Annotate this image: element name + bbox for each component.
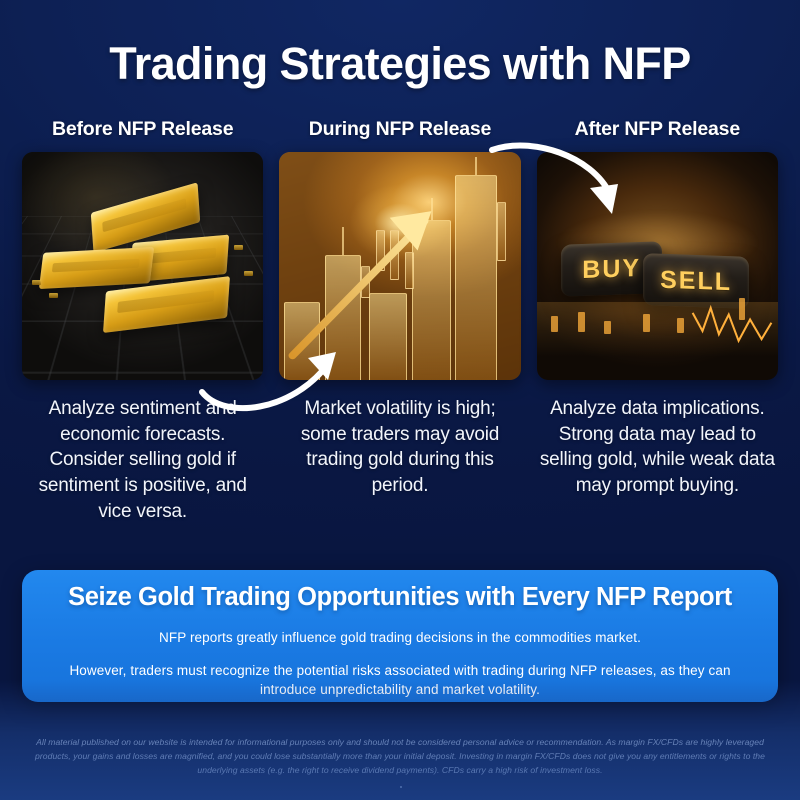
callout-line-1: NFP reports greatly influence gold tradi… (44, 628, 756, 648)
column-during-nfp: During NFP Release (279, 118, 520, 524)
image-buy-sell-buttons: BUY SELL (537, 152, 778, 380)
gold-chip (244, 271, 253, 276)
callout-heading: Seize Gold Trading Opportunities with Ev… (44, 583, 756, 612)
column-caption: Analyze sentiment and economic forecasts… (22, 396, 263, 524)
chart-tick (677, 318, 684, 333)
column-caption: Analyze data implications. Strong data m… (537, 396, 778, 499)
gold-bars-scene (22, 152, 263, 380)
chart-tick (578, 312, 585, 332)
image-rising-chart (279, 152, 520, 380)
column-heading: After NFP Release (537, 118, 778, 141)
image-gold-bars (22, 152, 263, 380)
footer-dot (400, 786, 402, 788)
column-before-nfp: Before NFP Release Analyze sentiment and… (22, 118, 263, 524)
amber-chart-scene (279, 152, 520, 380)
trend-up-arrow-icon (289, 198, 463, 362)
chart-tick (551, 316, 558, 332)
gold-chip (234, 245, 243, 250)
chart-tick (604, 321, 611, 334)
column-heading: During NFP Release (279, 118, 520, 141)
column-caption: Market volatility is high; some traders … (279, 396, 520, 499)
callout-box: Seize Gold Trading Opportunities with Ev… (22, 570, 778, 702)
callout-line-2: However, traders must recognize the pote… (44, 661, 756, 700)
buy-sell-scene: BUY SELL (537, 152, 778, 380)
chart-tick (643, 314, 650, 332)
gold-bar (39, 247, 154, 290)
strategy-columns: Before NFP Release Analyze sentiment and… (22, 118, 778, 524)
price-line-icon (691, 284, 773, 362)
candle-wick (475, 157, 477, 175)
column-after-nfp: After NFP Release BUY SELL (537, 118, 778, 524)
gold-chip (49, 293, 58, 298)
candlestick (497, 202, 506, 261)
gold-chip (32, 280, 41, 285)
infographic-poster: Trading Strategies with NFP Before NFP R… (0, 0, 800, 800)
column-heading: Before NFP Release (22, 118, 263, 141)
page-title: Trading Strategies with NFP (0, 38, 800, 90)
disclaimer-text: All material published on our website is… (26, 736, 774, 778)
